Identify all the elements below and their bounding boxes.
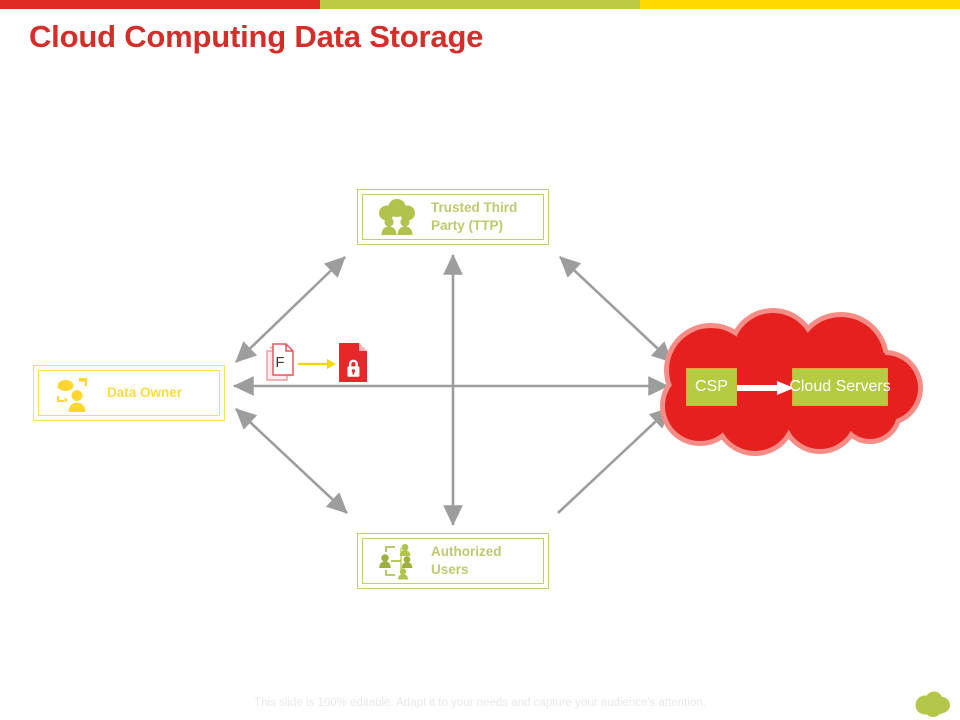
top-color-bar [0, 0, 960, 9]
connector-owner-users [236, 409, 347, 513]
node-label: Trusted Third Party (TTP) [431, 199, 517, 235]
node-label: Data Owner [107, 384, 182, 402]
file-document-icon: F [266, 342, 302, 389]
topbar-segment-olive [320, 0, 640, 9]
diagram-area: Trusted Third Party (TTP) [0, 75, 960, 675]
topbar-segment-yellow [640, 0, 960, 9]
topbar-segment-red [0, 0, 320, 9]
node-authorized-users[interactable]: Authorized Users [357, 533, 549, 589]
box-cloud-servers-label: Cloud Servers [789, 378, 890, 396]
cloud-service-provider-group: CSP Cloud Servers [645, 308, 930, 458]
box-csp[interactable]: CSP [686, 368, 737, 406]
slide-canvas: Cloud Computing Data Storage [0, 0, 960, 720]
footer-note: This slide is 100% editable. Adapt it to… [0, 697, 960, 709]
box-cloud-servers[interactable]: Cloud Servers [792, 368, 888, 406]
file-encryption-group: F [266, 339, 374, 387]
encrypted-file-lock-icon [338, 342, 372, 389]
box-csp-label: CSP [695, 378, 728, 396]
page-title: Cloud Computing Data Storage [29, 19, 483, 55]
cloud-user-upload-icon [53, 373, 93, 413]
node-trusted-third-party[interactable]: Trusted Third Party (TTP) [357, 189, 549, 245]
cloud-icon [912, 690, 952, 718]
user-network-icon [377, 541, 417, 581]
file-letter: F [275, 354, 284, 371]
group-of-people-icon [377, 197, 417, 237]
node-data-owner[interactable]: Data Owner [33, 365, 225, 421]
node-label: Authorized Users [431, 543, 502, 579]
arrow-right-icon [737, 380, 795, 401]
arrow-right-icon [298, 357, 338, 375]
